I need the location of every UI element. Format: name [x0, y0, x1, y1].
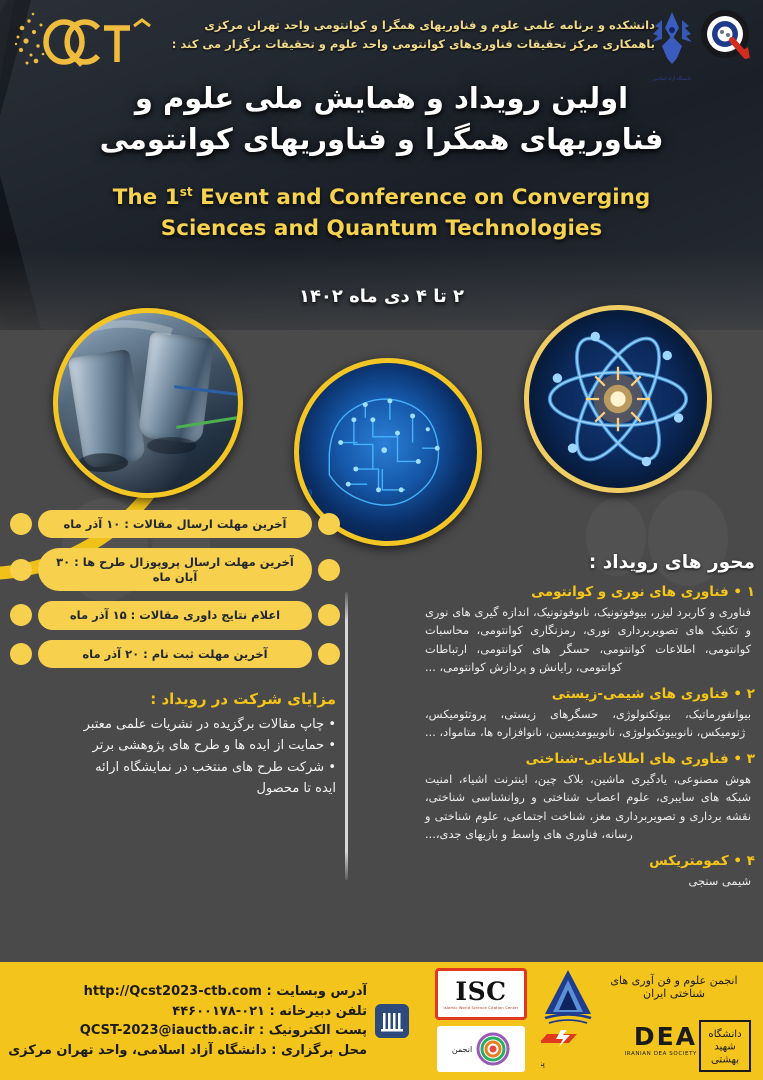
- rainbow-circle-icon: [476, 1032, 510, 1066]
- sbu-line-1: دانشگاه: [708, 1027, 741, 1040]
- email-value[interactable]: QCST-2023@iauctb.ac.ir: [80, 1021, 255, 1041]
- deadline-pill: آخرین مهلت ارسال پروپوزال طرح ها : ۳۰ آب…: [38, 548, 312, 591]
- bullet-dot-icon: [10, 604, 32, 626]
- organizer-line-1: دانشکده و برنامه علمی علوم و فناوریهای ه…: [135, 16, 655, 35]
- benefits-heading: مزایای شرکت در رویداد :: [10, 690, 336, 708]
- conference-poster: دانشکده و برنامه علمی علوم و فناوریهای ه…: [0, 0, 763, 1080]
- benefits-list: چاپ مقالات برگزیده در نشریات علمی معتبر …: [10, 715, 336, 799]
- atom-image: [524, 305, 712, 493]
- venue-label: محل برگزاری :: [271, 1043, 367, 1058]
- contact-lines: آدرس وبسایت : http://Qcst2023-ctb.com تل…: [6, 982, 367, 1060]
- bullet-dot-icon: [10, 513, 32, 535]
- topic-bullet: •: [729, 751, 742, 767]
- society-name-fa: انجمن علوم و فن آوری های شناختی ایران: [599, 974, 749, 1000]
- topic-bullet: •: [729, 853, 742, 869]
- topic-label: فناوری های نوری و کوانتومی: [531, 584, 729, 600]
- main-title-fa-line1: اولین رویداد و همایش ملی علوم و: [0, 78, 763, 119]
- content-area: محور های رویداد : ۱ • فناوری های نوری و …: [0, 500, 763, 960]
- deadline-pill: آخرین مهلت ثبت نام : ۲۰ آذر ماه: [38, 640, 312, 668]
- phone-label: تلفن دبیرخانه :: [270, 1004, 367, 1019]
- bullet-dot-icon: [10, 643, 32, 665]
- dea-logo-text: DEA: [601, 1024, 697, 1049]
- email-row: پست الکترونیک : QCST-2023@iauctb.ac.ir: [6, 1021, 367, 1041]
- topic-title: ۲ • فناوری های شیمی-زیستی: [415, 686, 755, 702]
- topic-body: هوش مصنوعی، یادگیری ماشین، بلاک چین، این…: [415, 770, 755, 844]
- benefit-item-continuation: ایده تا محصول: [10, 779, 336, 799]
- topic-number: ۴: [747, 853, 755, 869]
- main-title-en-line1: The 1st Event and Conference on Convergi…: [0, 182, 763, 213]
- topics-column: محور های رویداد : ۱ • فناوری های نوری و …: [415, 552, 755, 899]
- deadline-row: آخرین مهلت ارسال مقالات : ۱۰ آذر ماه: [10, 510, 340, 538]
- bullet-dot-icon: [318, 643, 340, 665]
- azad-university-logo: دانشگاه آزاد اسلامی: [649, 6, 695, 86]
- deadlines-column: آخرین مهلت ارسال مقالات : ۱۰ آذر ماه آخر…: [10, 510, 340, 801]
- topic-item: ۴ • کمومتریکس شیمی سنجی: [415, 853, 755, 890]
- topic-label: فناوری های اطلاعاتی-شناختی: [526, 751, 729, 767]
- cognitive-science-logo: انجمن: [437, 1026, 525, 1072]
- bullet-dot-icon: [318, 604, 340, 626]
- benefit-item: شرکت طرح های منتخب در نمایشگاه ارائه: [10, 758, 336, 778]
- isc-logo-text: ISC: [455, 979, 506, 1004]
- topics-heading: محور های رویداد :: [415, 552, 755, 573]
- phone-value: ۰۲۱-۴۴۶۰۰۱۷۸: [172, 1004, 265, 1019]
- bullet-dot-icon: [10, 559, 32, 581]
- deadline-pill: آخرین مهلت ارسال مقالات : ۱۰ آذر ماه: [38, 510, 312, 538]
- main-title-en: The 1st Event and Conference on Convergi…: [0, 182, 763, 244]
- topic-bullet: •: [729, 686, 742, 702]
- dea-logo-subtitle: IRANIAN DEA SOCIETY: [601, 1051, 697, 1057]
- niroo-label: پژوهشگاه نیرو: [541, 1057, 545, 1069]
- topic-number: ۲: [747, 686, 755, 702]
- venue-row: محل برگزاری : دانشگاه آزاد اسلامی، واحد …: [6, 1041, 367, 1061]
- institution-icon: [375, 1004, 409, 1038]
- isc-logo-subtitle: Islamic World Science Citation Center: [444, 1006, 519, 1010]
- website-label: آدرس وبسایت :: [266, 984, 367, 999]
- isc-logo: ISC Islamic World Science Citation Cente…: [435, 968, 527, 1020]
- website-value[interactable]: http://Qcst2023-ctb.com: [84, 982, 262, 1002]
- binary-row-1: 0110: [299, 489, 313, 498]
- dea-society-logo: DEA IRANIAN DEA SOCIETY: [601, 1024, 697, 1070]
- topic-item: ۳ • فناوری های اطلاعاتی-شناختی هوش مصنوع…: [415, 751, 755, 844]
- topic-label: فناوری های شیمی-زیستی: [552, 686, 729, 702]
- quantum-research-center-logo: [699, 6, 755, 62]
- topic-title: ۴ • کمومتریکس: [415, 853, 755, 869]
- venue-value: دانشگاه آزاد اسلامی، واحد تهران مرکزی: [8, 1043, 267, 1058]
- topic-body: فناوری و کاربرد لیزر، بیوفوتونیک، نانوفو…: [415, 603, 755, 677]
- website-row: آدرس وبسایت : http://Qcst2023-ctb.com: [6, 982, 367, 1002]
- topic-body: شیمی سنجی: [415, 872, 755, 890]
- contact-block: آدرس وبسایت : http://Qcst2023-ctb.com تل…: [0, 982, 423, 1060]
- university-triangle-logo: [535, 966, 601, 1028]
- event-date: ۲ تا ۴ دی ماه ۱۴۰۲: [0, 286, 763, 307]
- topic-number: ۳: [747, 751, 755, 767]
- title-ordinal-suffix: st: [180, 185, 193, 199]
- title-en-prefix: The 1: [113, 185, 180, 210]
- deadline-row: اعلام نتایج داوری مقالات : ۱۵ آذر ماه: [10, 601, 340, 629]
- topic-title: ۱ • فناوری های نوری و کوانتومی: [415, 584, 755, 600]
- qcst-logo: [12, 8, 152, 76]
- email-label: پست الکترونیک :: [259, 1023, 367, 1038]
- shahid-beheshti-university-logo: دانشگاه شهید بهشتی: [699, 1020, 751, 1072]
- topic-item: ۲ • فناوری های شیمی-زیستی بیوانفورماتیک،…: [415, 686, 755, 742]
- cognitive-science-label: انجمن: [452, 1045, 472, 1054]
- deadline-pill: اعلام نتایج داوری مقالات : ۱۵ آذر ماه: [38, 601, 312, 629]
- main-title-en-line2: Sciences and Quantum Technologies: [0, 213, 763, 244]
- sponsor-logos: ISC Islamic World Science Citation Cente…: [423, 962, 763, 1080]
- microscope-image: [53, 308, 243, 498]
- benefits-section: مزایای شرکت در رویداد : چاپ مقالات برگزی…: [10, 690, 340, 799]
- phone-row: تلفن دبیرخانه : ۰۲۱-۴۴۶۰۰۱۷۸: [6, 1002, 367, 1022]
- deadline-row: آخرین مهلت ارسال پروپوزال طرح ها : ۳۰ آب…: [10, 548, 340, 591]
- organizer-header: دانشکده و برنامه علمی علوم و فناوریهای ه…: [135, 16, 655, 53]
- benefit-item: چاپ مقالات برگزیده در نشریات علمی معتبر: [10, 715, 336, 735]
- sbu-line-3: بهشتی: [711, 1055, 739, 1066]
- deadline-row: آخرین مهلت ثبت نام : ۲۰ آذر ماه: [10, 640, 340, 668]
- niroo-research-logo: پژوهشگاه نیرو: [541, 1024, 599, 1074]
- footer-bar: ISC Islamic World Science Citation Cente…: [0, 962, 763, 1080]
- topic-number: ۱: [747, 584, 755, 600]
- sbu-line-2: شهید: [714, 1042, 736, 1053]
- title-en-rest: Event and Conference on Converging: [200, 185, 650, 210]
- topic-title: ۳ • فناوری های اطلاعاتی-شناختی: [415, 751, 755, 767]
- bullet-dot-icon: [318, 513, 340, 535]
- topic-bullet: •: [729, 584, 742, 600]
- bullet-dot-icon: [318, 559, 340, 581]
- organizer-line-2: باهمکاری مرکز تحقیقات فناوری‌های کوانتوم…: [135, 35, 655, 54]
- topic-body: بیوانفورماتیک، بیوتکنولوژی، حسگرهای زیست…: [415, 705, 755, 742]
- topic-label: کمومتریکس: [649, 853, 729, 869]
- main-title-fa: اولین رویداد و همایش ملی علوم و فناوریها…: [0, 78, 763, 160]
- main-title-fa-line2: فناوریهای همگرا و فناوریهای کوانتومی: [0, 119, 763, 160]
- topic-item: ۱ • فناوری های نوری و کوانتومی فناوری و …: [415, 584, 755, 677]
- benefit-item: حمایت از ایده ها و طرح های پژوهشی برتر: [10, 736, 336, 756]
- column-divider: [345, 592, 348, 880]
